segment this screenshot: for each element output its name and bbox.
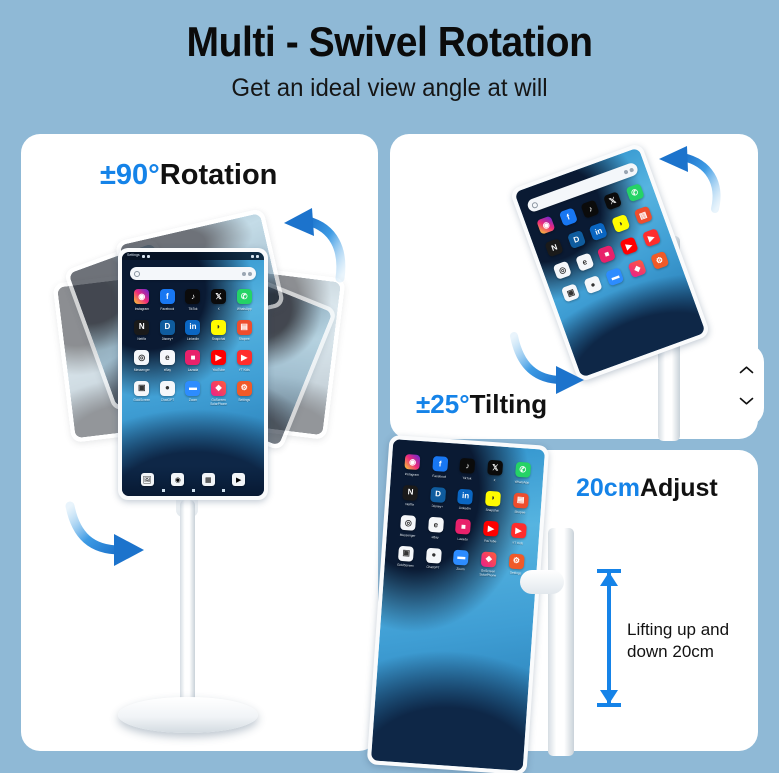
- app-glyph: ▬: [185, 381, 200, 396]
- app-label: Snapchat: [485, 508, 499, 513]
- app-label: Shopee: [239, 337, 250, 341]
- app-glyph: ◎: [400, 515, 416, 531]
- app-icon-linkedin[interactable]: inLinkedIn: [180, 320, 206, 342]
- app-label: WhatsApp: [237, 307, 252, 311]
- app-label: Settings: [238, 398, 250, 402]
- app-label: GoldScreen: [133, 398, 150, 402]
- rotation-heading-value: ±90°: [100, 159, 160, 191]
- app-label: Netflix: [405, 502, 414, 507]
- tablet-screen: Settings ◉InstagramfFacebook♪TikTok𝕏X✆Wh…: [122, 252, 264, 496]
- app-glyph: f: [160, 289, 175, 304]
- app-glyph: ⚙: [650, 251, 669, 270]
- app-glyph: ●: [426, 547, 442, 563]
- app-label: YT Kids: [239, 368, 250, 372]
- app-glyph: ⚙: [508, 553, 524, 569]
- nav-recent-icon[interactable]: [222, 489, 225, 492]
- page-subtitle: Get an ideal view angle at will: [16, 64, 764, 103]
- app-icon-ebay[interactable]: eeBay: [155, 350, 181, 372]
- app-glyph: in: [589, 222, 608, 241]
- app-glyph: ♪: [581, 199, 600, 218]
- tablet-statusbar: Settings: [122, 252, 264, 260]
- measure-caption-line2: down 20cm: [627, 641, 767, 663]
- app-label: LinkedIn: [187, 337, 199, 341]
- search-actions[interactable]: [242, 272, 252, 276]
- app-label: GoScreen SolarPhone: [206, 398, 232, 406]
- app-glyph: ▶: [619, 236, 638, 255]
- app-icon-goldscreen[interactable]: ▣GoldScreen: [129, 381, 155, 407]
- app-label: YT Kids: [512, 540, 523, 545]
- mic-icon[interactable]: [242, 272, 246, 276]
- app-glyph: ■: [185, 350, 200, 365]
- tablet-main[interactable]: Settings ◉InstagramfFacebook♪TikTok𝕏X✆Wh…: [118, 248, 268, 500]
- app-label: Messenger: [134, 368, 150, 372]
- app-icon-settings[interactable]: ⚙: [646, 249, 673, 271]
- app-icon-yt-kids[interactable]: ▶YT Kids: [504, 522, 533, 545]
- app-glyph: e: [428, 517, 444, 533]
- app-glyph: ♪: [460, 458, 476, 474]
- app-label: ChatGPT: [161, 398, 174, 402]
- app-glyph: ✆: [515, 462, 531, 478]
- app-icon-messenger[interactable]: ◎Messenger: [394, 514, 423, 537]
- app-glyph: ◉: [405, 454, 421, 470]
- app-glyph: D: [430, 486, 446, 502]
- app-label: GoScreen SolarPhone: [474, 568, 502, 578]
- app-icon-yt-kids[interactable]: ▶YT Kids: [231, 350, 257, 372]
- app-icon-messenger[interactable]: ◎Messenger: [129, 350, 155, 372]
- app-icon-facebook[interactable]: fFacebook: [425, 455, 454, 478]
- app-icon-ebay[interactable]: eeBay: [421, 516, 450, 539]
- app-icon-shopee[interactable]: ▤: [629, 204, 656, 226]
- app-glyph: ▤: [513, 492, 529, 508]
- app-icon-goscreen-solarphone[interactable]: ◆GoScreen SolarPhone: [474, 551, 503, 578]
- app-icon-whatsapp[interactable]: ✆WhatsApp: [231, 289, 257, 311]
- app-glyph: in: [458, 488, 474, 504]
- app-icon-settings[interactable]: ⚙Settings: [231, 381, 257, 407]
- app-glyph: ◉: [537, 215, 556, 234]
- measure-caption-line1: Lifting up and: [627, 619, 767, 641]
- stand-pole: [180, 500, 195, 708]
- app-glyph: ▶: [211, 350, 226, 365]
- search-icon: [134, 271, 140, 277]
- app-icon-goldscreen[interactable]: ▣GoldScreen: [391, 545, 420, 572]
- app-icon-x[interactable]: 𝕏X: [481, 459, 510, 482]
- app-icon-lazada[interactable]: ■Lazada: [180, 350, 206, 372]
- app-label: TikTok: [188, 307, 197, 311]
- app-icon-tiktok[interactable]: ♪TikTok: [453, 457, 482, 480]
- app-glyph: in: [185, 320, 200, 335]
- app-icon-lazada[interactable]: ■Lazada: [449, 518, 478, 541]
- tilt-arrow-up: [655, 145, 730, 213]
- battery-icon: [256, 255, 259, 258]
- app-icon-chatgpt[interactable]: ●ChatGPT: [155, 381, 181, 407]
- app-glyph: 𝕏: [603, 191, 622, 210]
- app-icon-instagram[interactable]: ◉Instagram: [398, 454, 427, 477]
- app-glyph: ◆: [628, 259, 647, 278]
- app-label: TikTok: [462, 475, 471, 480]
- app-label: Facebook: [432, 473, 446, 478]
- stand-base: [118, 697, 258, 733]
- statusbar-right: [251, 255, 259, 258]
- app-icon-facebook[interactable]: fFacebook: [155, 289, 181, 311]
- app-label: LinkedIn: [459, 506, 471, 511]
- adjust-stand-pole: [548, 528, 574, 756]
- mic-icon[interactable]: [623, 169, 628, 174]
- app-icon-youtube[interactable]: ▶YouTube: [476, 520, 505, 543]
- app-glyph: ▣: [561, 283, 580, 302]
- app-glyph: D: [567, 230, 586, 249]
- app-icon-linkedin[interactable]: inLinkedIn: [451, 488, 480, 511]
- app-icon-snapchat[interactable]: ◗Snapchat: [206, 320, 232, 342]
- app-glyph: ◎: [553, 261, 572, 280]
- chevron-up-icon[interactable]: [739, 365, 754, 374]
- app-glyph: ◗: [211, 320, 226, 335]
- tablet-dock: 🖼◉▦▶: [122, 466, 264, 496]
- app-label: GoldScreen: [397, 563, 414, 568]
- app-glyph: ◆: [211, 381, 226, 396]
- app-glyph: f: [432, 456, 448, 472]
- app-icon-disney-[interactable]: DDisney+: [423, 486, 452, 509]
- app-glyph: ▣: [398, 545, 414, 561]
- adjust-heading-value: 20cm: [576, 474, 640, 502]
- app-icon-tiktok[interactable]: ♪TikTok: [180, 289, 206, 311]
- rotation-arrow-lower: [62, 498, 150, 570]
- app-icon-whatsapp[interactable]: ✆WhatsApp: [508, 461, 537, 484]
- app-icon-youtube[interactable]: ▶YouTube: [206, 350, 232, 372]
- chevron-down-icon[interactable]: [739, 397, 754, 406]
- tilt-heading-label: Tilting: [470, 389, 548, 419]
- app-glyph: ■: [455, 519, 471, 535]
- app-icon-instagram[interactable]: ◉Instagram: [129, 289, 155, 311]
- rotation-arrow-upper: [278, 206, 358, 281]
- app-grid: ◉InstagramfFacebook♪TikTok𝕏X✆WhatsAppNNe…: [122, 289, 264, 406]
- app-glyph: ▤: [237, 320, 252, 335]
- app-label: Shopee: [514, 510, 525, 515]
- app-icon-yt-kids[interactable]: ▶: [638, 227, 665, 249]
- dock-icon-play[interactable]: ▶: [232, 473, 245, 486]
- app-glyph: ▶: [483, 521, 499, 537]
- app-glyph: f: [559, 207, 578, 226]
- app-glyph: ⚙: [237, 381, 252, 396]
- app-glyph: ▬: [606, 267, 625, 286]
- lens-icon[interactable]: [629, 167, 634, 172]
- app-label: Facebook: [160, 307, 174, 311]
- rotation-heading-label: Rotation: [160, 159, 278, 191]
- dock-icon-gallery[interactable]: ▦: [202, 473, 215, 486]
- measure-caption: Lifting up and down 20cm: [627, 619, 767, 664]
- app-glyph: ▶: [237, 350, 252, 365]
- app-label: X: [493, 478, 495, 482]
- tilt-heading-value: ±25°: [416, 389, 470, 419]
- app-glyph: ▶: [511, 523, 527, 539]
- app-icon-zoom[interactable]: ▬Zoom: [180, 381, 206, 407]
- app-icon-shopee[interactable]: ▤Shopee: [231, 320, 257, 342]
- app-glyph: ●: [160, 381, 175, 396]
- app-label: eBay: [164, 368, 171, 372]
- app-icon-chatgpt[interactable]: ●ChatGPT: [419, 547, 448, 574]
- app-glyph: ✆: [237, 289, 252, 304]
- tilt-heading: ±25°Tilting: [416, 389, 547, 420]
- app-glyph: D: [160, 320, 175, 335]
- app-glyph: ◗: [611, 214, 630, 233]
- app-label: Disney+: [431, 504, 443, 509]
- app-glyph: ▤: [633, 206, 652, 225]
- app-label: Netflix: [137, 337, 146, 341]
- search-icon: [531, 201, 539, 209]
- app-glyph: ◗: [485, 490, 501, 506]
- app-label: Instagram: [135, 307, 149, 311]
- statusbar-dot: [142, 255, 145, 258]
- app-label: Lazada: [188, 368, 198, 372]
- nav-back-icon[interactable]: [162, 489, 165, 492]
- app-glyph: e: [160, 350, 175, 365]
- app-label: eBay: [431, 534, 439, 538]
- page-title: Multi - Swivel Rotation: [27, 0, 751, 64]
- app-icon-zoom[interactable]: ▬Zoom: [446, 549, 475, 576]
- app-glyph: ◎: [134, 350, 149, 365]
- app-label: Messenger: [400, 532, 416, 537]
- statusbar-left: Settings: [127, 254, 150, 258]
- search-input[interactable]: [130, 267, 256, 280]
- adjust-heading-label: Adjust: [640, 474, 718, 502]
- nav-dots: [122, 486, 264, 492]
- app-label: X: [218, 307, 220, 311]
- tablet-closeup[interactable]: ◉InstagramfFacebook♪TikTok𝕏X✆WhatsAppNNe…: [367, 435, 550, 773]
- adjust-stand-arm: [520, 570, 564, 594]
- app-icon-whatsapp[interactable]: ✆: [621, 182, 648, 204]
- app-glyph: N: [403, 484, 419, 500]
- wifi-icon: [251, 255, 254, 258]
- app-glyph: ◆: [481, 551, 497, 567]
- header: Multi - Swivel Rotation Get an ideal vie…: [0, 0, 779, 122]
- app-label: Lazada: [457, 536, 468, 541]
- nav-home-icon[interactable]: [192, 489, 195, 492]
- app-icon-netflix[interactable]: NNetflix: [396, 484, 425, 507]
- app-glyph: ▬: [453, 549, 469, 565]
- app-glyph: ✆: [625, 183, 644, 202]
- app-label: Disney+: [162, 337, 174, 341]
- app-icon-x[interactable]: 𝕏X: [206, 289, 232, 311]
- app-label: WhatsApp: [514, 479, 529, 484]
- search-actions[interactable]: [623, 167, 634, 174]
- app-glyph: e: [575, 253, 594, 272]
- app-label: Zoom: [189, 398, 197, 402]
- app-glyph: N: [545, 238, 564, 257]
- app-glyph: N: [134, 320, 149, 335]
- app-label: Zoom: [456, 567, 464, 572]
- height-adjust-control[interactable]: [728, 344, 764, 426]
- app-glyph: ♪: [185, 289, 200, 304]
- app-glyph: 𝕏: [211, 289, 226, 304]
- statusbar-dot: [147, 255, 150, 258]
- app-label: Instagram: [405, 471, 419, 476]
- dock-icon-chrome[interactable]: ◉: [171, 473, 184, 486]
- app-icon-netflix[interactable]: NNetflix: [129, 320, 155, 342]
- app-glyph: ■: [597, 244, 616, 263]
- app-icon-goscreen-solarphone[interactable]: ◆GoScreen SolarPhone: [206, 381, 232, 407]
- app-label: YouTube: [484, 538, 497, 543]
- lens-icon[interactable]: [248, 272, 252, 276]
- app-icon-snapchat[interactable]: ◗Snapchat: [478, 490, 507, 513]
- app-glyph: ▣: [134, 381, 149, 396]
- adjust-heading: 20cmAdjust: [576, 474, 718, 503]
- app-label: Settings: [510, 571, 522, 576]
- app-glyph: ▶: [642, 228, 661, 247]
- app-label: ChatGPT: [426, 565, 440, 570]
- rotation-heading: ±90°Rotation: [100, 159, 277, 192]
- dock-row: 🖼◉▦▶: [122, 473, 264, 486]
- app-glyph: ◉: [134, 289, 149, 304]
- tablet-screen: ◉InstagramfFacebook♪TikTok𝕏X✆WhatsAppNNe…: [371, 439, 545, 771]
- app-label: Snapchat: [212, 337, 225, 341]
- app-icon-disney-[interactable]: DDisney+: [155, 320, 181, 342]
- statusbar-label: Settings: [127, 254, 140, 258]
- measure-arrow: [595, 566, 623, 710]
- dock-icon-photos[interactable]: 🖼: [141, 473, 154, 486]
- app-glyph: 𝕏: [487, 460, 503, 476]
- app-icon-shopee[interactable]: ▤Shopee: [506, 492, 535, 515]
- app-grid: ◉InstagramfFacebook♪TikTok𝕏X✆WhatsAppNNe…: [384, 453, 544, 580]
- app-glyph: ●: [583, 275, 602, 294]
- app-label: YouTube: [212, 368, 225, 372]
